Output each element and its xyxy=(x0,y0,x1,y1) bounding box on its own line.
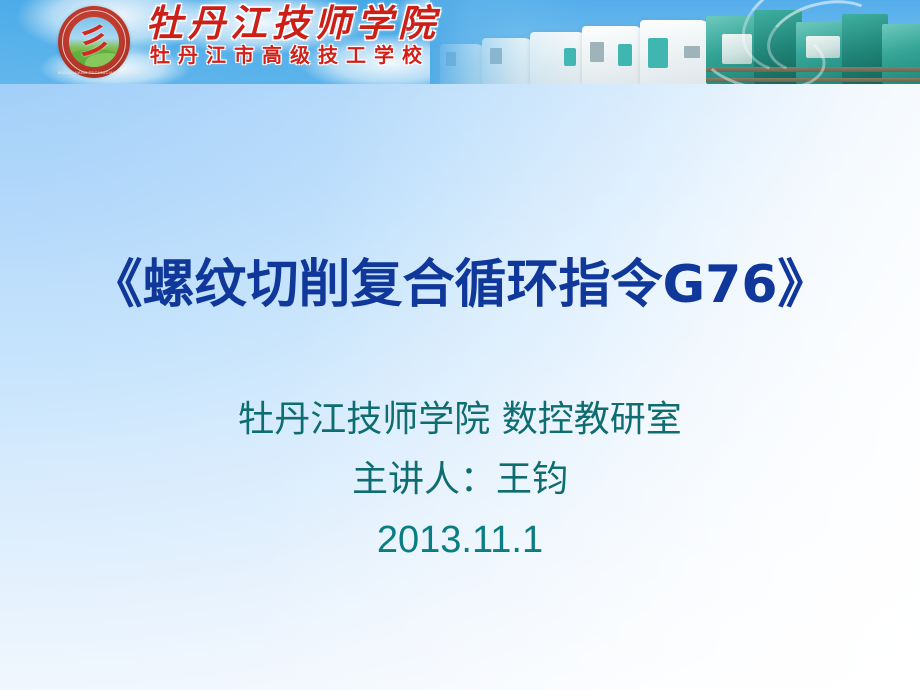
emblem-figure-glyph: 彡 xyxy=(77,25,111,59)
slide-title: 《螺纹切削复合循环指令G76》 xyxy=(0,256,920,316)
presentation-slide: 彡 MUDANJIANG TECHNICIAN COLLEGE 牡丹江技师学院 … xyxy=(0,0,920,690)
emblem-arc-text: MUDANJIANG TECHNICIAN COLLEGE xyxy=(58,70,130,75)
organization-line: 牡丹江技师学院 数控教研室 xyxy=(0,398,920,441)
date-line: 2013.11.1 xyxy=(0,518,920,564)
speaker-line: 主讲人：王钧 xyxy=(0,458,920,501)
school-subname-title: 牡丹江市高级技工学校 xyxy=(150,45,430,66)
school-emblem-logo: 彡 MUDANJIANG TECHNICIAN COLLEGE xyxy=(58,6,130,78)
header-banner: 彡 MUDANJIANG TECHNICIAN COLLEGE 牡丹江技师学院 … xyxy=(0,0,920,84)
background-right-fade xyxy=(0,0,920,690)
school-name-title: 牡丹江技师学院 xyxy=(146,4,440,43)
